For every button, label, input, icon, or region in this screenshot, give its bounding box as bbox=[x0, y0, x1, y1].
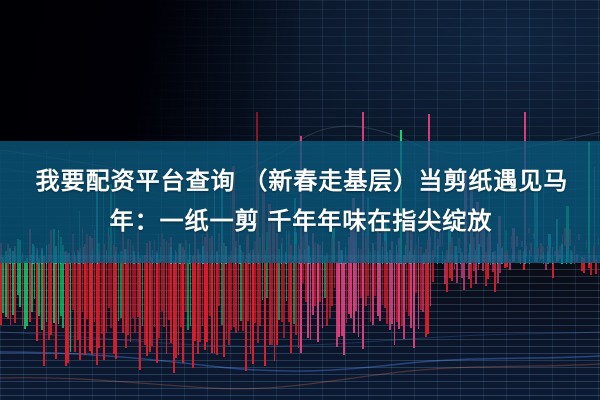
headline-line-1: 我要配资平台查询 （新春走基层）当剪纸遇见马 bbox=[32, 162, 569, 202]
volume-bar bbox=[590, 262, 592, 275]
headline-banner: 我要配资平台查询 （新春走基层）当剪纸遇见马 年：一纸一剪 千年年味在指尖绽放 bbox=[0, 141, 600, 263]
thumbnail-canvas: 我要配资平台查询 （新春走基层）当剪纸遇见马 年：一纸一剪 千年年味在指尖绽放 bbox=[0, 0, 600, 400]
headline-line-2: 年：一纸一剪 千年年味在指尖绽放 bbox=[108, 202, 493, 242]
volume-bar bbox=[463, 260, 465, 290]
